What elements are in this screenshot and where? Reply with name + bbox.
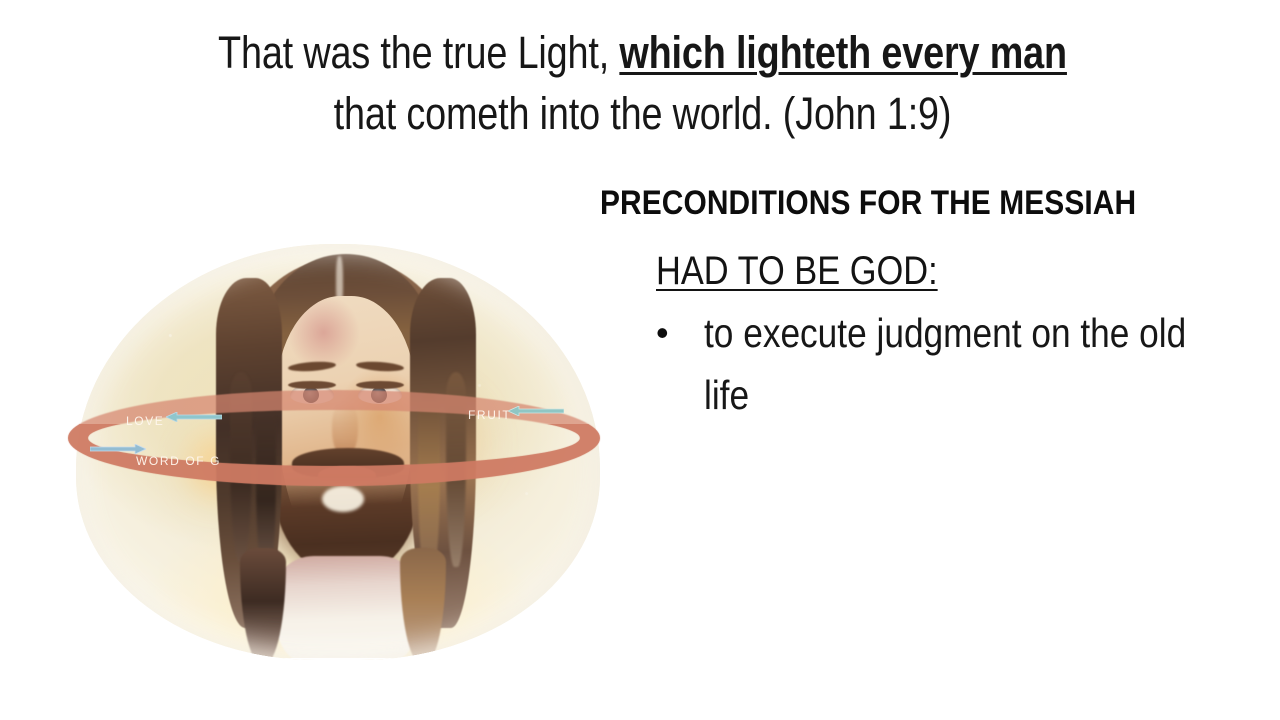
- section-title: PRECONDITIONS FOR THE MESSIAH: [600, 182, 1188, 224]
- left-arrow-icon: [508, 406, 564, 415]
- scripture-part-1: That was the true Light,: [218, 27, 619, 78]
- ring-label-fruit: FRUIT: [468, 408, 511, 422]
- bullet-text: to execute judgment on the old life: [704, 302, 1189, 426]
- bullet-list: • to execute judgment on the old life: [600, 302, 1268, 426]
- scripture-part-2: that cometh into the world. (John 1:9): [334, 88, 952, 139]
- scripture-emphasis: which lighteth every man: [619, 27, 1067, 78]
- scripture-heading: That was the true Light, which lighteth …: [204, 22, 1082, 144]
- ring-label-word-of-god: WORD OF G: [136, 454, 221, 468]
- bulb-bottom-crop: [76, 658, 600, 660]
- content-column: PRECONDITIONS FOR THE MESSIAH HAD TO BE …: [600, 182, 1268, 426]
- right-arrow-icon: [90, 444, 146, 453]
- orbit-ring: LOVE FRUIT WORD OF G: [68, 390, 600, 486]
- list-item: • to execute judgment on the old life: [656, 302, 1268, 426]
- left-arrow-icon: [166, 412, 222, 421]
- bullet-marker-icon: •: [656, 302, 704, 364]
- sub-heading: HAD TO BE GOD:: [656, 246, 938, 296]
- illustration-lightbulb-jesus: LOVE FRUIT WORD OF G: [68, 244, 600, 660]
- slide-canvas: That was the true Light, which lighteth …: [0, 0, 1280, 720]
